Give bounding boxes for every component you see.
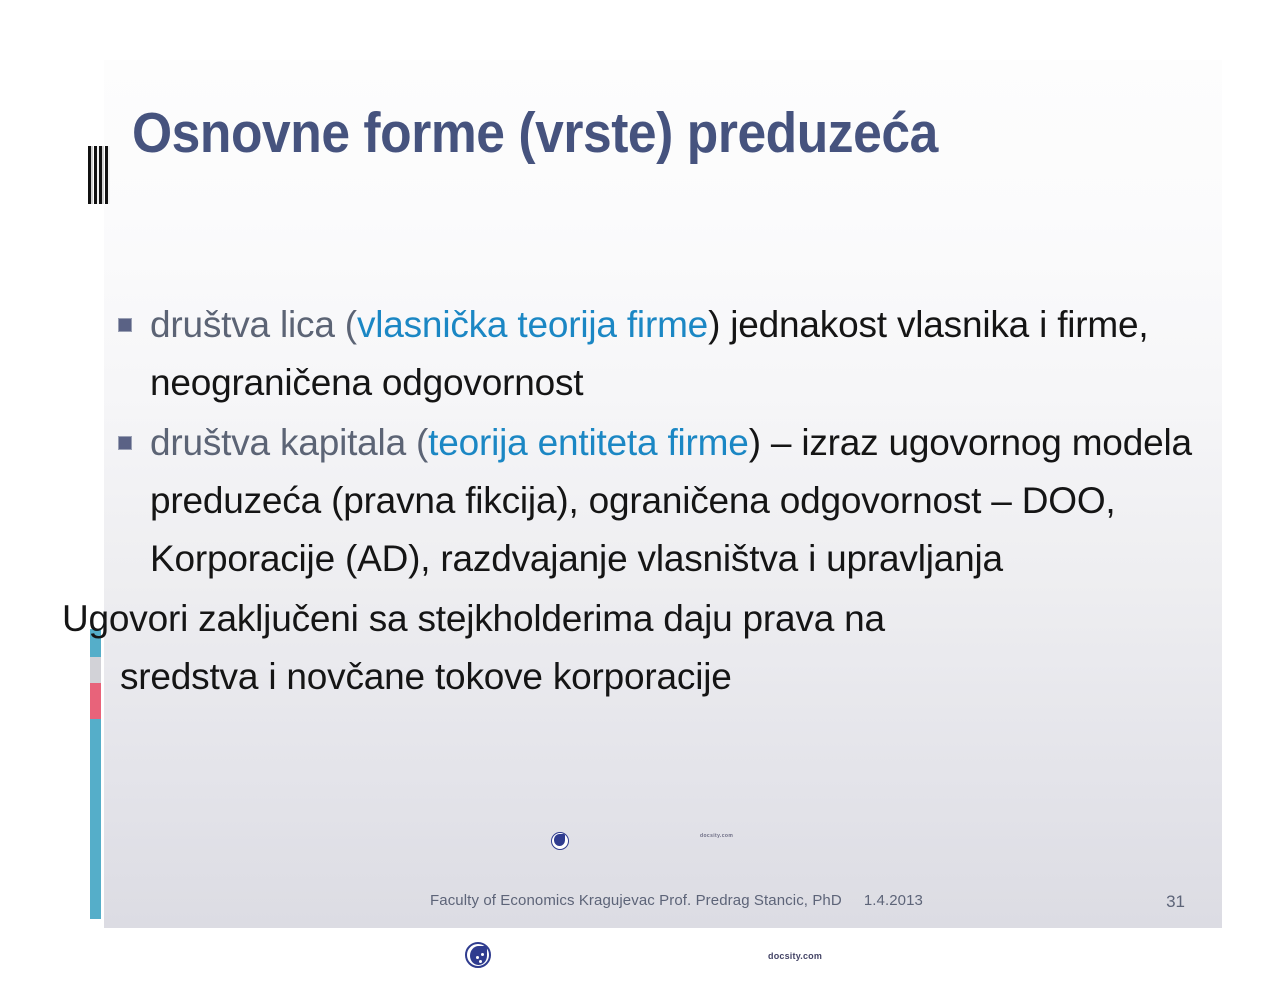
bullet-2-segment-lead: društva kapitala ( [150,422,428,463]
page-canvas: Osnovne forme (vrste) preduzeća društva … [0,0,1280,989]
slide-footer: Faculty of Economics Kragujevac Prof. Pr… [104,892,1222,922]
page-title: Osnovne forme (vrste) preduzeća [132,100,1091,166]
footer-date: 1.4.2013 [864,892,923,909]
square-bullet-icon [118,318,132,332]
slide-page-number: 31 [1166,892,1185,912]
slide-body: društva lica (vlasnička teorija firme) j… [104,296,1222,706]
bullet-1-segment-accent: vlasnička teorija firme [357,304,708,345]
title-block: Osnovne forme (vrste) preduzeća [132,100,1192,196]
closing-paragraph: Ugovori zaključeni sa stejkholderima daj… [62,590,1222,706]
docsity-logo-icon [465,942,491,968]
bullet-1-segment-lead: društva lica ( [150,304,357,345]
footer-credit-text: Faculty of Economics Kragujevac Prof. Pr… [430,892,842,909]
bullet-list: društva lica (vlasnička teorija firme) j… [104,296,1222,588]
presentation-slide: Osnovne forme (vrste) preduzeća društva … [104,60,1222,928]
page-watermark-bar [0,934,1280,989]
inline-watermark: docsity.com [104,830,1222,856]
docsity-logo-icon [551,832,569,850]
page-watermark-label: docsity.com [768,951,822,961]
inline-watermark-label: docsity.com [700,833,733,839]
title-stripes-decoration [88,146,110,204]
square-bullet-icon [118,436,132,450]
accent-segment-teal-long [90,719,101,919]
list-item: društva lica (vlasnička teorija firme) j… [104,296,1222,412]
footer-credit: Faculty of Economics Kragujevac Prof. Pr… [430,892,923,909]
closing-paragraph-line-1: Ugovori zaključeni sa stejkholderima daj… [62,598,885,639]
closing-paragraph-line-2: sredstva i novčane tokove korporacije [62,648,1222,706]
bullet-2-segment-accent: teorija entiteta firme [428,422,749,463]
list-item: društva kapitala (teorija entiteta firme… [104,414,1222,588]
